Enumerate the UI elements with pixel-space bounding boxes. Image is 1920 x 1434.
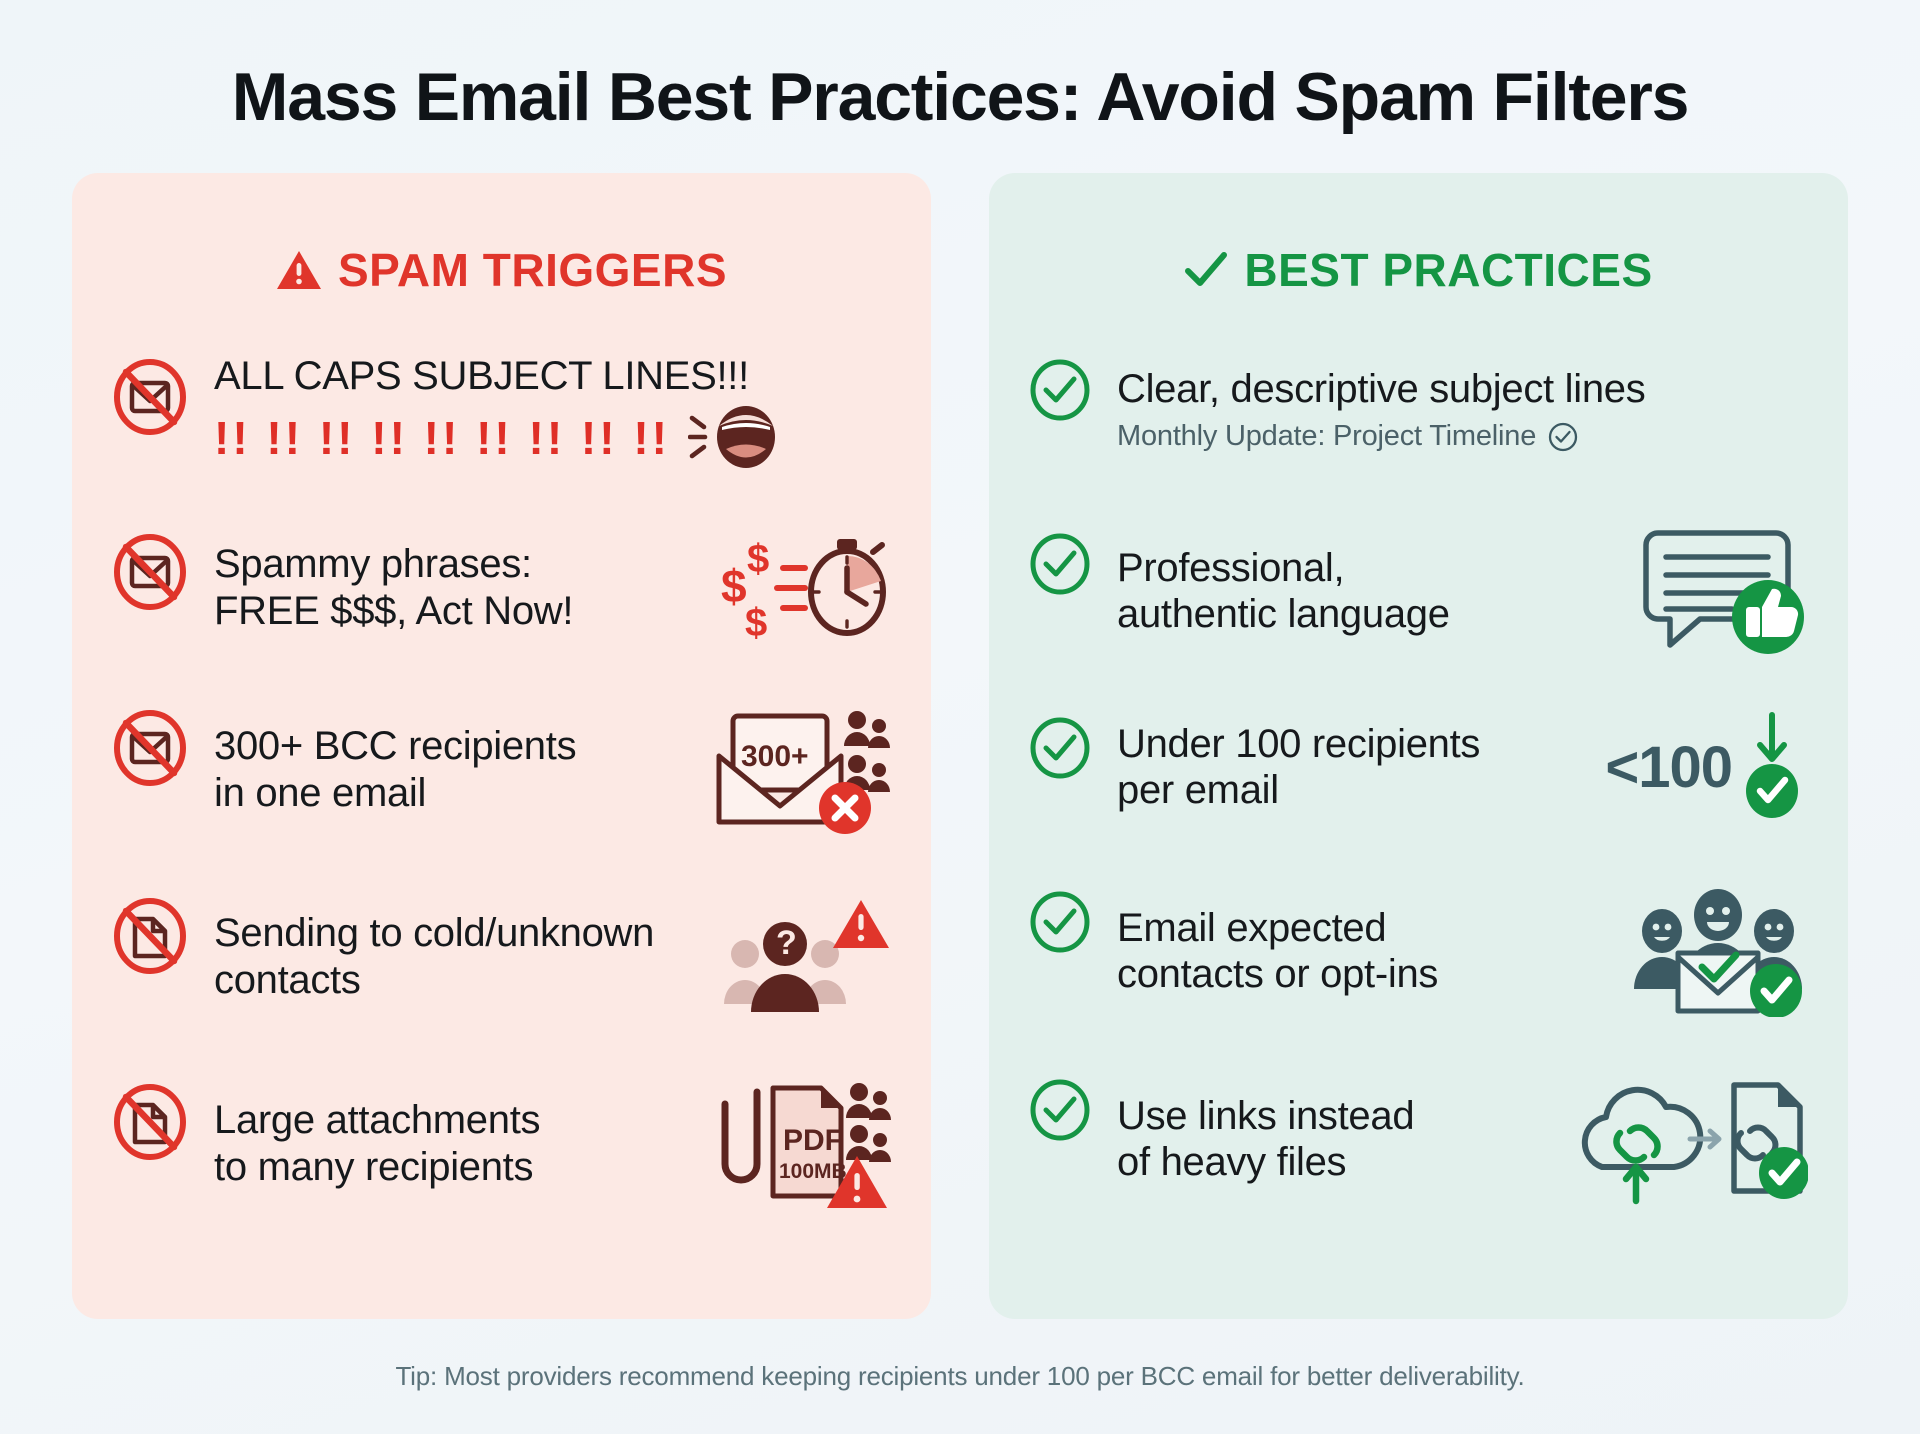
pdf-attachment-icon: PDF 100MB: [711, 1078, 891, 1210]
no-email-icon: [112, 353, 188, 435]
less-than-100-icon: <100: [1605, 711, 1808, 823]
best-item-3-line1: Under 100 recipients: [1117, 721, 1591, 767]
best-item-5-line2: of heavy files: [1117, 1139, 1564, 1185]
check-circle-icon: [1029, 527, 1091, 595]
spam-panel-title: SPAM TRIGGERS: [338, 243, 727, 297]
check-circle-icon: [1029, 711, 1091, 779]
check-circle-icon: [1029, 1073, 1091, 1141]
svg-text:$: $: [745, 601, 767, 645]
svg-text:$: $: [747, 537, 769, 581]
warning-triangle-icon: [276, 249, 322, 291]
panels-container: SPAM TRIGGERS ALL CAPS SUBJECT LINES!!!: [0, 133, 1920, 1319]
spam-item-4-line2: contacts: [214, 957, 707, 1003]
spam-item-3-line2: in one email: [214, 770, 697, 816]
best-item-2-line1: Professional,: [1117, 545, 1622, 591]
svg-text:300+: 300+: [741, 740, 809, 773]
page-title: Mass Email Best Practices: Avoid Spam Fi…: [0, 0, 1920, 133]
best-panel-title: BEST PRACTICES: [1244, 243, 1652, 297]
money-stopwatch-icon: $ $ $: [721, 528, 891, 648]
shouting-mouth-icon: [688, 400, 780, 472]
spam-item-2-line1: Spammy phrases:: [214, 541, 707, 587]
spam-item-2: Spammy phrases: FREE $$$, Act Now! $ $ $: [112, 528, 891, 648]
spam-item-3-line1: 300+ BCC recipients: [214, 723, 697, 769]
spam-panel-header: SPAM TRIGGERS: [112, 243, 891, 297]
spam-item-1-bangline: !! !! !! !! !! !! !! !! !!: [214, 400, 891, 472]
best-item-4: Email expected contacts or opt-ins: [1029, 885, 1808, 1017]
svg-text:PDF: PDF: [783, 1124, 843, 1157]
best-item-2-line2: authentic language: [1117, 591, 1622, 637]
no-email-icon: [112, 704, 188, 786]
no-document-icon: [112, 892, 188, 974]
spam-item-2-line2: FREE $$$, Act Now!: [214, 588, 707, 634]
spam-item-5-line2: to many recipients: [214, 1144, 697, 1190]
spam-item-1-text: ALL CAPS SUBJECT LINES!!!: [214, 353, 891, 399]
best-item-4-line2: contacts or opt-ins: [1117, 951, 1614, 997]
chat-thumbsup-icon: [1636, 527, 1808, 655]
svg-text:$: $: [721, 560, 747, 612]
best-item-5: Use links instead of heavy files: [1029, 1073, 1808, 1205]
spam-item-4-line1: Sending to cold/unknown: [214, 910, 707, 956]
best-panel-header: BEST PRACTICES: [1029, 243, 1808, 297]
best-item-1-text: Clear, descriptive subject lines: [1117, 366, 1808, 412]
best-item-4-line1: Email expected: [1117, 905, 1614, 951]
best-item-3-line2: per email: [1117, 767, 1591, 813]
spam-triggers-panel: SPAM TRIGGERS ALL CAPS SUBJECT LINES!!!: [72, 173, 931, 1319]
check-circle-outline-icon: [1548, 422, 1578, 452]
recipient-limit-label: <100: [1605, 734, 1732, 801]
svg-text:100MB: 100MB: [779, 1160, 847, 1183]
svg-text:?: ?: [776, 924, 797, 962]
unknown-contacts-icon: ?: [721, 892, 891, 1022]
spam-item-5: Large attachments to many recipients PDF…: [112, 1078, 891, 1210]
best-item-1-subtext: Monthly Update: Project Timeline: [1117, 420, 1536, 453]
opted-in-people-icon: [1628, 885, 1808, 1017]
no-document-icon: [112, 1078, 188, 1160]
best-item-1-subtext-row: Monthly Update: Project Timeline: [1117, 420, 1808, 453]
best-practices-panel: BEST PRACTICES Clear, descriptive subjec…: [989, 173, 1848, 1319]
spam-item-4: Sending to cold/unknown contacts ?: [112, 892, 891, 1022]
best-item-3: Under 100 recipients per email <100: [1029, 711, 1808, 829]
spam-item-3: 300+ BCC recipients in one email 300+: [112, 704, 891, 836]
spam-item-1: ALL CAPS SUBJECT LINES!!! !! !! !! !! !!…: [112, 353, 891, 471]
checkmark-icon: [1184, 250, 1228, 290]
best-item-2: Professional, authentic language: [1029, 527, 1808, 655]
footer-tip: Tip: Most providers recommend keeping re…: [0, 1361, 1920, 1392]
envelope-300plus-icon: 300+: [711, 704, 891, 836]
best-item-1: Clear, descriptive subject lines Monthly…: [1029, 353, 1808, 471]
check-circle-icon: [1029, 353, 1091, 421]
check-circle-icon: [1029, 885, 1091, 953]
no-email-icon: [112, 528, 188, 610]
exclamation-marks: !! !! !! !! !! !! !! !! !!: [214, 411, 670, 465]
infographic-page: Mass Email Best Practices: Avoid Spam Fi…: [0, 0, 1920, 1434]
cloud-link-file-icon: [1578, 1073, 1808, 1205]
best-item-5-line1: Use links instead: [1117, 1093, 1564, 1139]
spam-item-5-line1: Large attachments: [214, 1097, 697, 1143]
